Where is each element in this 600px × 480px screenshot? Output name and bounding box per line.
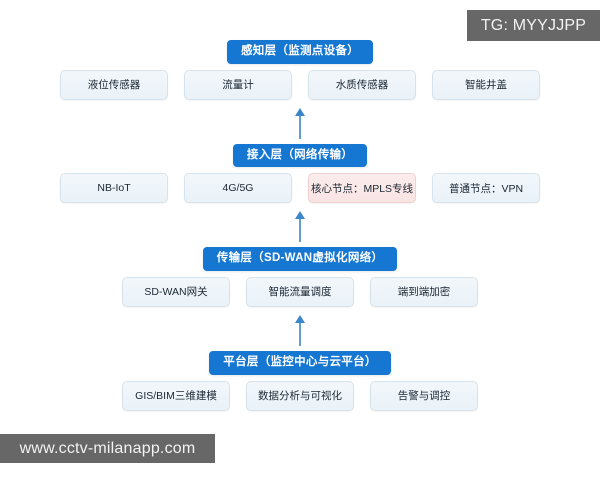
layer-group-platform: 平台层（监控中心与云平台） GIS/BIM三维建模 数据分析与可视化 告警与调控	[0, 351, 600, 411]
node-flow-meter[interactable]: 流量计	[184, 70, 292, 100]
node-liquid-level-sensor[interactable]: 液位传感器	[60, 70, 168, 100]
node-smart-manhole-cover[interactable]: 智能井盖	[432, 70, 540, 100]
architecture-diagram: 感知层（监测点设备） 液位传感器 流量计 水质传感器 智能井盖 接入层（网络传输…	[0, 0, 600, 480]
node-row-transport: SD-WAN网关 智能流量调度 端到端加密	[122, 277, 478, 307]
node-nb-iot[interactable]: NB-IoT	[60, 173, 168, 203]
node-row-perception: 液位传感器 流量计 水质传感器 智能井盖	[60, 70, 540, 100]
node-row-platform: GIS/BIM三维建模 数据分析与可视化 告警与调控	[122, 381, 478, 411]
layer-group-perception: 感知层（监测点设备） 液位传感器 流量计 水质传感器 智能井盖	[0, 40, 600, 100]
layer-header-access: 接入层（网络传输）	[233, 144, 367, 168]
layer-header-perception: 感知层（监测点设备）	[227, 40, 373, 64]
arrow-up-icon-access-to-perception	[291, 106, 309, 140]
layer-header-platform: 平台层（监控中心与云平台）	[209, 351, 390, 375]
layer-group-transport: 传输层（SD-WAN虚拟化网络） SD-WAN网关 智能流量调度 端到端加密	[0, 247, 600, 307]
node-sd-wan-gateway[interactable]: SD-WAN网关	[122, 277, 230, 307]
arrow-up-icon-transport-to-access	[291, 209, 309, 243]
node-alarm-and-control[interactable]: 告警与调控	[370, 381, 478, 411]
watermark-website: www.cctv-milanapp.com	[0, 434, 215, 463]
watermark-telegram: TG: MYYJJPP	[467, 10, 600, 41]
layer-header-transport: 传输层（SD-WAN虚拟化网络）	[203, 247, 397, 271]
node-gis-bim-3d-modeling[interactable]: GIS/BIM三维建模	[122, 381, 230, 411]
arrow-up-icon-platform-to-transport	[291, 313, 309, 347]
node-core-mpls-line[interactable]: 核心节点：MPLS专线	[308, 173, 416, 203]
node-smart-traffic-scheduling[interactable]: 智能流量调度	[246, 277, 354, 307]
node-end-to-end-encryption[interactable]: 端到端加密	[370, 277, 478, 307]
node-water-quality-sensor[interactable]: 水质传感器	[308, 70, 416, 100]
node-data-analysis-visualization[interactable]: 数据分析与可视化	[246, 381, 354, 411]
layer-group-access: 接入层（网络传输） NB-IoT 4G/5G 核心节点：MPLS专线 普通节点：…	[0, 144, 600, 204]
node-normal-vpn[interactable]: 普通节点：VPN	[432, 173, 540, 203]
node-4g-5g[interactable]: 4G/5G	[184, 173, 292, 203]
node-row-access: NB-IoT 4G/5G 核心节点：MPLS专线 普通节点：VPN	[60, 173, 540, 203]
